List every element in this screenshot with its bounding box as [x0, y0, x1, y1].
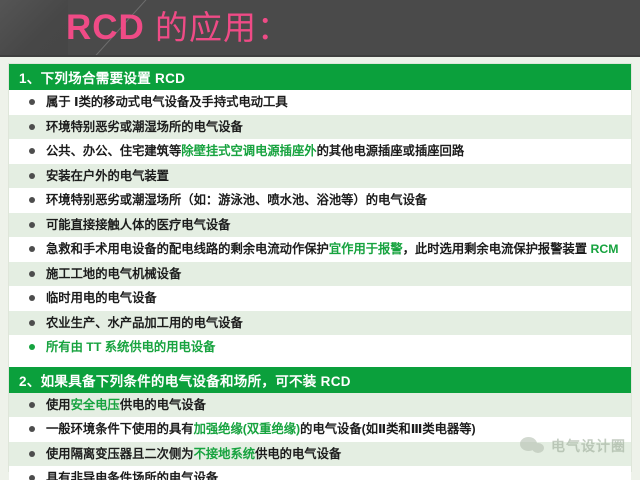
- list-item: 环境特别恶劣或潮湿场所的电气设备: [9, 115, 631, 140]
- section-1-spacer: [9, 360, 631, 365]
- bullet-icon: [29, 246, 35, 252]
- list-item: 安装在户外的电气装置: [9, 164, 631, 189]
- list-item: 可能直接接触人体的医疗电气设备: [9, 213, 631, 238]
- plain-text: 供电的电气设备: [120, 398, 206, 412]
- list-item-text: 临时用电的电气设备: [46, 290, 621, 307]
- list-item: 农业生产、水产品加工用的电气设备: [9, 311, 631, 336]
- bullet-icon: [29, 426, 35, 432]
- plain-text: 属于 Ⅰ类的移动式电气设备及手持式电动工具: [46, 95, 288, 109]
- highlighted-text: RCM: [591, 242, 619, 256]
- list-item: 使用隔离变压器且二次侧为不接地系统供电的电气设备: [9, 442, 631, 467]
- slide: RCD 的应用： 1、下列场合需要设置 RCD 属于 Ⅰ类的移动式电气设备及手持…: [0, 0, 640, 480]
- section-header-1: 1、下列场合需要设置 RCD: [9, 64, 631, 90]
- highlighted-text: 宜作用于报警: [329, 242, 403, 256]
- highlighted-text: 除壁挂式空调电源插座外: [181, 144, 316, 158]
- header-shade: [0, 0, 68, 57]
- list-item-text: 急救和手术用电设备的配电线路的剩余电流动作保护宜作用于报警，此时选用剩余电流保护…: [46, 241, 621, 258]
- page-title-latin: RCD: [66, 8, 145, 47]
- slide-header: RCD 的应用：: [0, 0, 640, 57]
- plain-text: 一般环境条件下使用的具有: [46, 422, 194, 436]
- plain-text: 使用隔离变压器且二次侧为: [46, 447, 194, 461]
- bullet-icon: [29, 344, 35, 350]
- plain-text: 所有由 TT 系统供电的用电设备: [46, 340, 215, 354]
- list-item: 公共、办公、住宅建筑等除壁挂式空调电源插座外的其他电源插座或插座回路: [9, 139, 631, 164]
- plain-text: ，此时选用剩余电流保护报警装置: [403, 242, 591, 256]
- list-item: 使用安全电压供电的电气设备: [9, 393, 631, 418]
- bullet-icon: [29, 124, 35, 130]
- plain-text: 环境特别恶劣或潮湿场所的电气设备: [46, 120, 243, 134]
- list-item: 所有由 TT 系统供电的用电设备: [9, 335, 631, 360]
- highlighted-text: 加强绝缘(双重绝缘): [194, 422, 301, 436]
- list-item-text: 所有由 TT 系统供电的用电设备: [46, 339, 621, 356]
- plain-text: 环境特别恶劣或潮湿场所（如：游泳池、喷水池、浴池等）的电气设备: [46, 193, 427, 207]
- bullet-icon: [29, 451, 35, 457]
- bullet-icon: [29, 295, 35, 301]
- plain-text: 农业生产、水产品加工用的电气设备: [46, 316, 243, 330]
- content-panel: 1、下列场合需要设置 RCD 属于 Ⅰ类的移动式电气设备及手持式电动工具环境特别…: [0, 57, 640, 480]
- list-item-text: 可能直接接触人体的医疗电气设备: [46, 217, 621, 234]
- list-item-text: 环境特别恶劣或潮湿场所（如：游泳池、喷水池、浴池等）的电气设备: [46, 192, 621, 209]
- bullet-icon: [29, 197, 35, 203]
- list-item-text: 农业生产、水产品加工用的电气设备: [46, 315, 621, 332]
- section-list-2: 使用安全电压供电的电气设备一般环境条件下使用的具有加强绝缘(双重绝缘)的电气设备…: [9, 393, 631, 480]
- content-card: 1、下列场合需要设置 RCD 属于 Ⅰ类的移动式电气设备及手持式电动工具环境特别…: [8, 63, 632, 472]
- list-item: 急救和手术用电设备的配电线路的剩余电流动作保护宜作用于报警，此时选用剩余电流保护…: [9, 237, 631, 262]
- highlighted-text: 安全电压: [71, 398, 120, 412]
- list-item-text: 使用安全电压供电的电气设备: [46, 397, 621, 414]
- highlighted-text: 不接地系统: [194, 447, 256, 461]
- plain-text: 的其他电源插座或插座回路: [317, 144, 465, 158]
- bullet-icon: [29, 99, 35, 105]
- bullet-icon: [29, 222, 35, 228]
- plain-text: 临时用电的电气设备: [46, 291, 157, 305]
- plain-text: 公共、办公、住宅建筑等: [46, 144, 181, 158]
- list-item-text: 具有非导电条件场所的电气设备: [46, 470, 621, 480]
- bullet-icon: [29, 148, 35, 154]
- list-item-text: 公共、办公、住宅建筑等除壁挂式空调电源插座外的其他电源插座或插座回路: [46, 143, 621, 160]
- list-item-text: 属于 Ⅰ类的移动式电气设备及手持式电动工具: [46, 94, 621, 111]
- list-item-text: 环境特别恶劣或潮湿场所的电气设备: [46, 119, 621, 136]
- list-item: 施工工地的电气机械设备: [9, 262, 631, 287]
- list-item-text: 施工工地的电气机械设备: [46, 266, 621, 283]
- page-title: RCD 的应用：: [66, 3, 291, 52]
- list-item: 环境特别恶劣或潮湿场所（如：游泳池、喷水池、浴池等）的电气设备: [9, 188, 631, 213]
- plain-text: 供电的电气设备: [255, 447, 341, 461]
- list-item: 属于 Ⅰ类的移动式电气设备及手持式电动工具: [9, 90, 631, 115]
- plain-text: 可能直接接触人体的医疗电气设备: [46, 218, 230, 232]
- page-title-cjk: 的应用：: [145, 9, 291, 46]
- section-list-1: 属于 Ⅰ类的移动式电气设备及手持式电动工具环境特别恶劣或潮湿场所的电气设备公共、…: [9, 90, 631, 360]
- list-item: 具有非导电条件场所的电气设备: [9, 466, 631, 480]
- bullet-icon: [29, 475, 35, 480]
- list-item-text: 安装在户外的电气装置: [46, 168, 621, 185]
- plain-text: 使用: [46, 398, 71, 412]
- bullet-icon: [29, 173, 35, 179]
- bullet-icon: [29, 402, 35, 408]
- plain-text: 安装在户外的电气装置: [46, 169, 169, 183]
- plain-text: 施工工地的电气机械设备: [46, 267, 181, 281]
- bullet-icon: [29, 320, 35, 326]
- list-item: 一般环境条件下使用的具有加强绝缘(双重绝缘)的电气设备(如Ⅱ类和Ⅲ类电器等): [9, 417, 631, 442]
- plain-text: 急救和手术用电设备的配电线路的剩余电流动作保护: [46, 242, 329, 256]
- section-header-2: 2、如果具备下列条件的电气设备和场所，可不装 RCD: [9, 367, 631, 393]
- plain-text: 具有非导电条件场所的电气设备: [46, 471, 218, 480]
- bullet-icon: [29, 271, 35, 277]
- list-item-text: 使用隔离变压器且二次侧为不接地系统供电的电气设备: [46, 446, 621, 463]
- list-item-text: 一般环境条件下使用的具有加强绝缘(双重绝缘)的电气设备(如Ⅱ类和Ⅲ类电器等): [46, 421, 621, 438]
- plain-text: 的电气设备(如Ⅱ类和Ⅲ类电器等): [300, 422, 475, 436]
- list-item: 临时用电的电气设备: [9, 286, 631, 311]
